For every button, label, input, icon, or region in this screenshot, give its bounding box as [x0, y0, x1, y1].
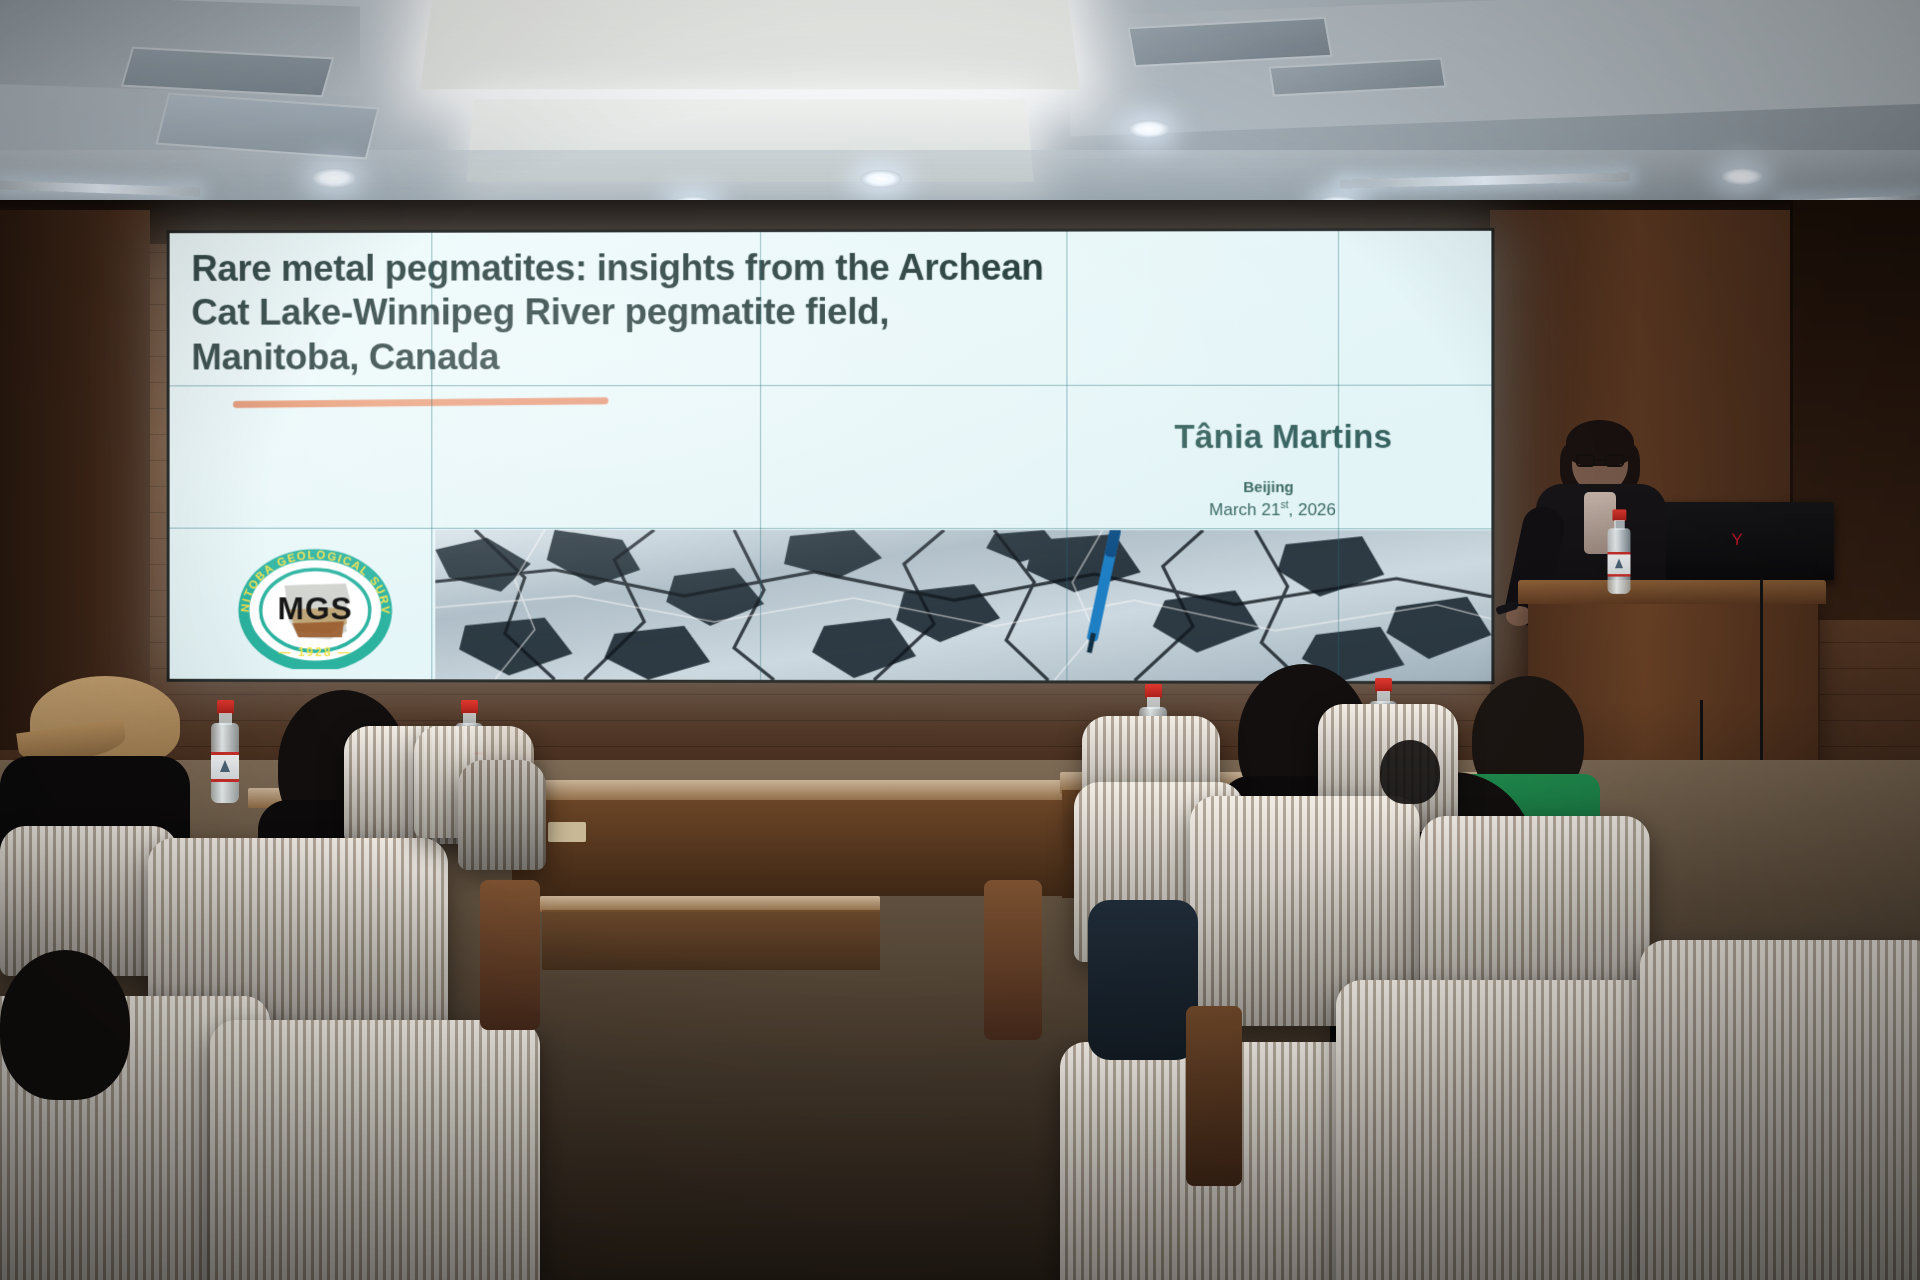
auditorium-chair[interactable]: [458, 760, 546, 870]
slide-date: March 21st, 2026: [1209, 500, 1336, 520]
slide-date-main: March 21: [1209, 500, 1280, 519]
ceiling-panel-right: [1070, 0, 1920, 137]
wall-column-left: [0, 210, 150, 750]
desk-front-panel: [512, 800, 1068, 896]
desk-surface: [510, 780, 1070, 802]
slide-surface: Rare metal pegmatites: insights from the…: [170, 231, 1492, 681]
lecture-hall-scene: Rare metal pegmatites: insights from the…: [0, 0, 1920, 1280]
pegmatite-outcrop-photo: [435, 530, 1491, 681]
panel-seam-vertical: [431, 233, 432, 680]
panel-seam-vertical: [760, 232, 761, 680]
presenter-glasses-icon: [1576, 454, 1624, 467]
panel-seam-horizontal: [170, 385, 1492, 387]
auditorium-chair[interactable]: [210, 1020, 540, 1280]
desk-front-panel: [542, 910, 880, 970]
manitoba-geological-survey-logo: MANITOBA GEOLOGICAL SURVEY MGS — 1928 —: [227, 548, 404, 670]
panel-seam-vertical: [1338, 231, 1339, 681]
ceiling-coffer-main: [420, 0, 1079, 89]
slide-date-suffix: st: [1281, 501, 1289, 512]
chair-armrest: [984, 880, 1042, 1040]
water-bottle[interactable]: [1607, 509, 1632, 594]
backpack: [1088, 900, 1198, 1060]
laptop-brand-logo: Y: [1729, 532, 1745, 548]
desk-name-card: [548, 822, 586, 842]
panel-seam-vertical: [1066, 232, 1067, 681]
slide-date-year: , 2026: [1288, 500, 1336, 519]
slide-title: Rare metal pegmatites: insights from the…: [191, 246, 1048, 380]
attendee-head-small: [1380, 740, 1440, 804]
svg-text:MGS: MGS: [278, 590, 353, 626]
title-accent-underline: [233, 397, 609, 408]
attendee-far-left-front: [0, 950, 130, 1100]
presentation-screen[interactable]: Rare metal pegmatites: insights from the…: [170, 231, 1492, 681]
slide-venue: Beijing: [1243, 479, 1293, 496]
chair-armrest: [480, 880, 540, 1030]
chair-armrest: [1186, 1006, 1242, 1186]
podium-top-edge: [1518, 580, 1826, 604]
ceiling-downlight: [312, 168, 356, 188]
svg-text:— 1928 —: — 1928 —: [279, 645, 352, 659]
ceiling-downlight: [1722, 168, 1762, 185]
ceiling-downlight: [860, 170, 902, 188]
water-bottle[interactable]: [210, 700, 240, 804]
ceiling-downlight: [1128, 120, 1170, 138]
ceiling-band: [0, 150, 1920, 200]
auditorium-chair[interactable]: [1640, 940, 1920, 1280]
slide-presenter-name: Tânia Martins: [1174, 418, 1392, 456]
auditorium-chair[interactable]: [1336, 980, 1666, 1280]
